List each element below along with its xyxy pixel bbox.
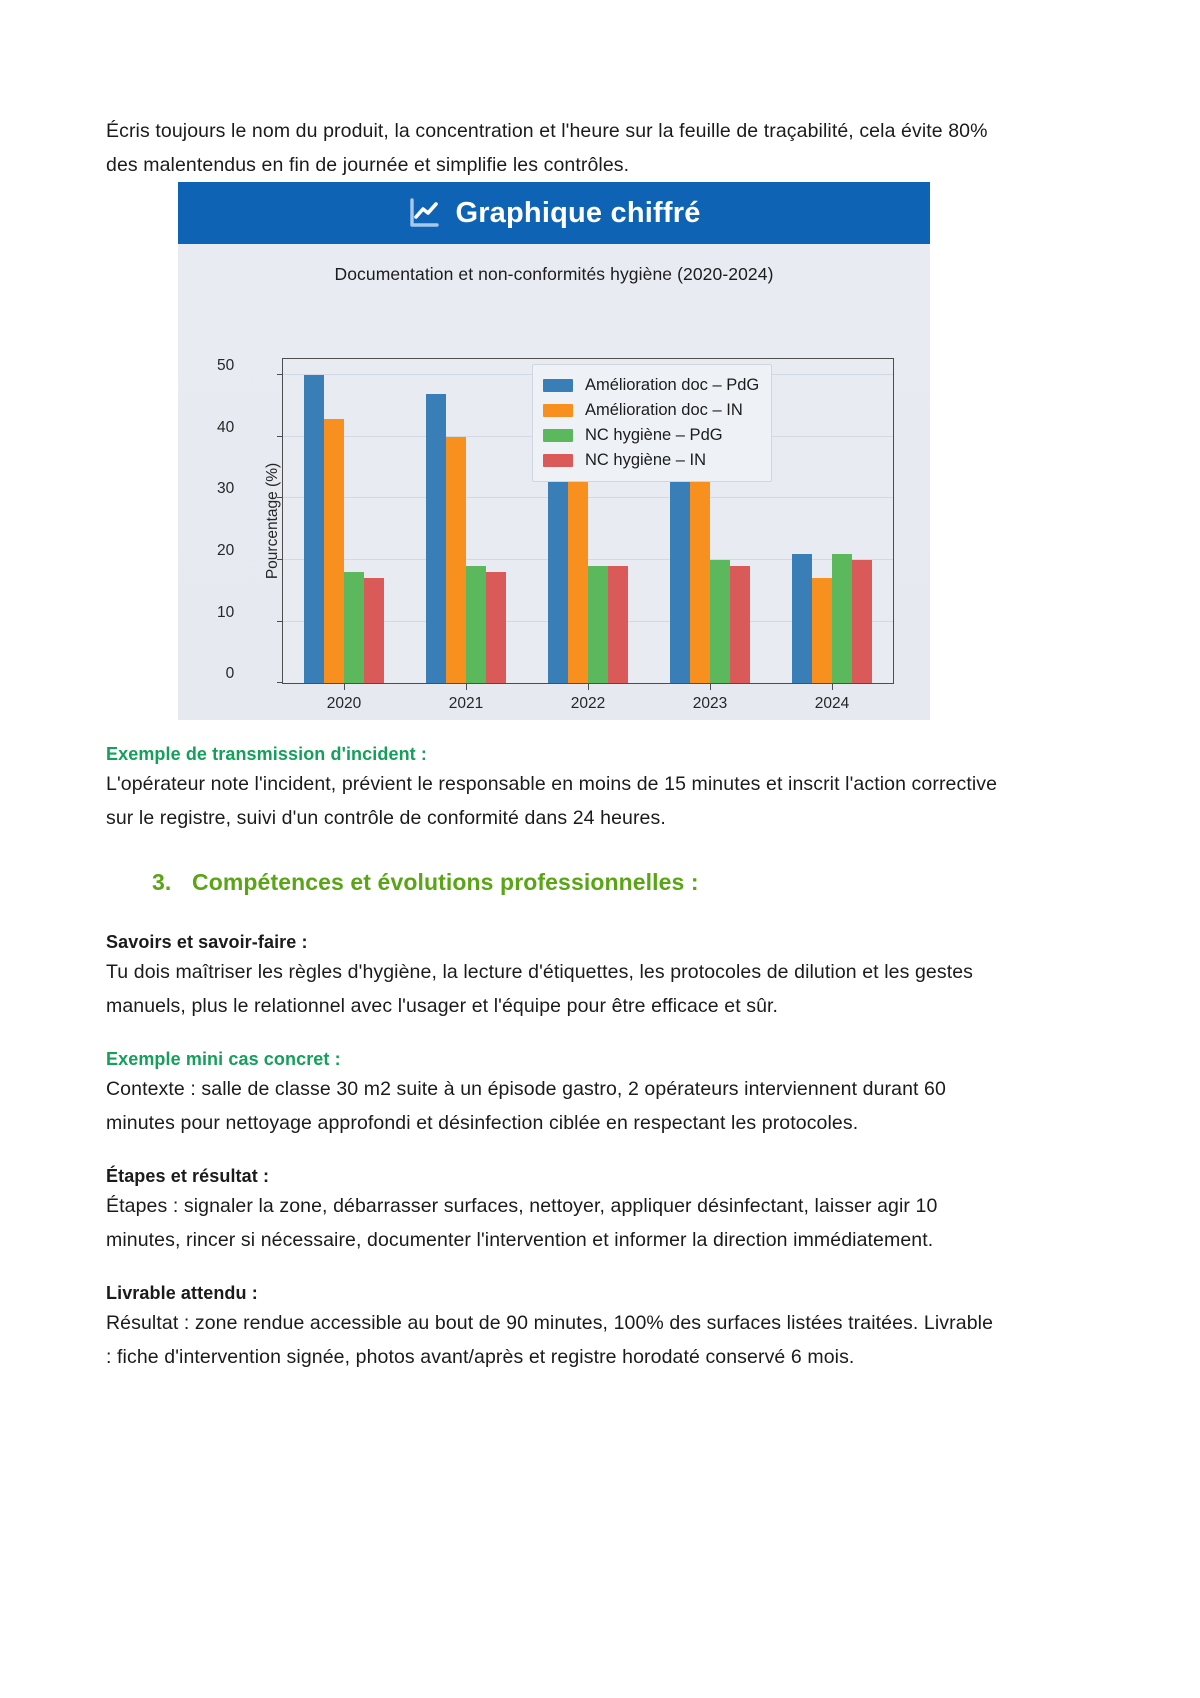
bar (486, 572, 506, 683)
document-page: Écris toujours le nom du produit, la con… (0, 0, 1200, 1698)
legend-swatch (543, 404, 573, 417)
etapes-body: Étapes : signaler la zone, débarrasser s… (106, 1189, 998, 1257)
cas-concret-body: Contexte : salle de classe 30 m2 suite à… (106, 1072, 998, 1140)
bar (730, 566, 750, 683)
bar (710, 560, 730, 683)
livrable-heading: Livrable attendu : (106, 1283, 998, 1304)
chart-banner-title: Graphique chiffré (455, 197, 700, 230)
legend-swatch (543, 379, 573, 392)
y-tick-label: 40 (217, 419, 234, 437)
x-tick-label: 2023 (693, 695, 727, 713)
bar (446, 437, 466, 683)
legend-swatch (543, 429, 573, 442)
x-tick-mark (588, 684, 589, 690)
section-savoirs: Savoirs et savoir-faire : Tu dois maîtri… (106, 932, 998, 1023)
chart-banner: Graphique chiffré (178, 182, 930, 244)
chart-body: Documentation et non-conformités hygiène… (178, 244, 930, 720)
savoirs-heading: Savoirs et savoir-faire : (106, 932, 998, 953)
bar (466, 566, 486, 683)
section-cas-concret: Exemple mini cas concret : Contexte : sa… (106, 1049, 998, 1140)
x-tick-mark (710, 684, 711, 690)
bar (832, 554, 852, 683)
section-title: Compétences et évolutions professionnell… (192, 869, 699, 896)
bar (304, 375, 324, 683)
bar (426, 394, 446, 683)
legend-swatch (543, 454, 573, 467)
chart-legend: Amélioration doc – PdGAmélioration doc –… (532, 364, 772, 482)
legend-label: NC hygiène – PdG (585, 426, 723, 445)
bar (324, 419, 344, 683)
section-etapes: Étapes et résultat : Étapes : signaler l… (106, 1166, 998, 1257)
bar (792, 554, 812, 683)
y-tick-label: 10 (217, 604, 234, 622)
y-tick-label: 0 (226, 665, 235, 683)
section-livrable: Livrable attendu : Résultat : zone rendu… (106, 1283, 998, 1374)
x-tick-mark (344, 684, 345, 690)
bar (852, 560, 872, 683)
legend-item: NC hygiène – PdG (543, 423, 759, 448)
bar (344, 572, 364, 683)
legend-label: Amélioration doc – IN (585, 401, 743, 420)
legend-item: Amélioration doc – IN (543, 398, 759, 423)
bar (364, 578, 384, 683)
bar-group: 2020 (283, 359, 405, 683)
bar (568, 449, 588, 683)
chart-card: Graphique chiffré Documentation et non-c… (178, 182, 930, 720)
legend-label: Amélioration doc – PdG (585, 376, 759, 395)
bar-group: 2021 (405, 359, 527, 683)
legend-item: Amélioration doc – PdG (543, 373, 759, 398)
y-tick-label: 50 (217, 357, 234, 375)
section-number: 3. (152, 869, 174, 896)
bar (690, 468, 710, 683)
bar-group: 2024 (771, 359, 893, 683)
y-tick-label: 20 (217, 542, 234, 560)
bar (812, 578, 832, 683)
etapes-heading: Étapes et résultat : (106, 1166, 998, 1187)
legend-item: NC hygiène – IN (543, 448, 759, 473)
incident-heading: Exemple de transmission d'incident : (106, 744, 998, 765)
bar (670, 455, 690, 683)
line-chart-icon (407, 196, 441, 230)
savoirs-body: Tu dois maîtriser les règles d'hygiène, … (106, 955, 998, 1023)
x-tick-label: 2021 (449, 695, 483, 713)
x-tick-label: 2022 (571, 695, 605, 713)
bar (588, 566, 608, 683)
content-area: Exemple de transmission d'incident : L'o… (106, 744, 998, 1400)
y-tick-label: 30 (217, 480, 234, 498)
intro-paragraph: Écris toujours le nom du produit, la con… (106, 114, 998, 182)
x-tick-mark (466, 684, 467, 690)
x-tick-label: 2020 (327, 695, 361, 713)
x-tick-mark (832, 684, 833, 690)
y-axis-label: Pourcentage (%) (264, 463, 282, 579)
legend-label: NC hygiène – IN (585, 451, 706, 470)
livrable-body: Résultat : zone rendue accessible au bou… (106, 1306, 998, 1374)
numbered-section-heading: 3. Compétences et évolutions professionn… (152, 869, 998, 896)
incident-body: L'opérateur note l'incident, prévient le… (106, 767, 998, 835)
x-tick-label: 2024 (815, 695, 849, 713)
bar (608, 566, 628, 683)
cas-concret-heading: Exemple mini cas concret : (106, 1049, 998, 1070)
section-incident: Exemple de transmission d'incident : L'o… (106, 744, 998, 835)
